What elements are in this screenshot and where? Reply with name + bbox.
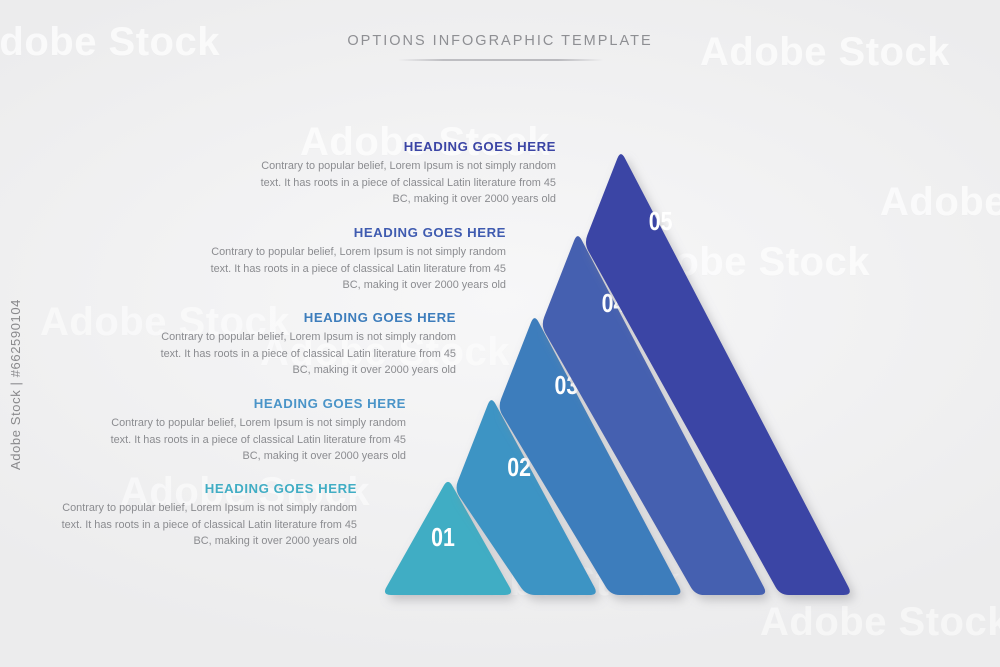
item-text-01: HEADING GOES HERE Contrary to popular be…: [57, 481, 357, 550]
infographic-canvas: Adobe Stock Adobe Stock Adobe Stock Adob…: [0, 0, 1000, 667]
item-heading-02: HEADING GOES HERE: [106, 396, 406, 411]
item-text-03: HEADING GOES HERE Contrary to popular be…: [156, 310, 456, 379]
segment-number-01: 01: [431, 523, 455, 553]
item-body-01: Contrary to popular belief, Lorem Ipsum …: [57, 500, 357, 550]
item-heading-03: HEADING GOES HERE: [156, 310, 456, 325]
item-body-03: Contrary to popular belief, Lorem Ipsum …: [156, 329, 456, 379]
item-body-02: Contrary to popular belief, Lorem Ipsum …: [106, 415, 406, 465]
item-text-02: HEADING GOES HERE Contrary to popular be…: [106, 396, 406, 465]
item-heading-04: HEADING GOES HERE: [206, 225, 506, 240]
item-heading-05: HEADING GOES HERE: [256, 139, 556, 154]
item-text-05: HEADING GOES HERE Contrary to popular be…: [256, 139, 556, 208]
item-body-05: Contrary to popular belief, Lorem Ipsum …: [256, 158, 556, 208]
item-body-04: Contrary to popular belief, Lorem Ipsum …: [206, 244, 506, 294]
segment-number-05: 05: [649, 207, 673, 237]
pyramid-chart: 0102030405: [0, 0, 1000, 667]
segment-number-02: 02: [507, 453, 531, 483]
item-heading-01: HEADING GOES HERE: [57, 481, 357, 496]
item-text-04: HEADING GOES HERE Contrary to popular be…: [206, 225, 506, 294]
